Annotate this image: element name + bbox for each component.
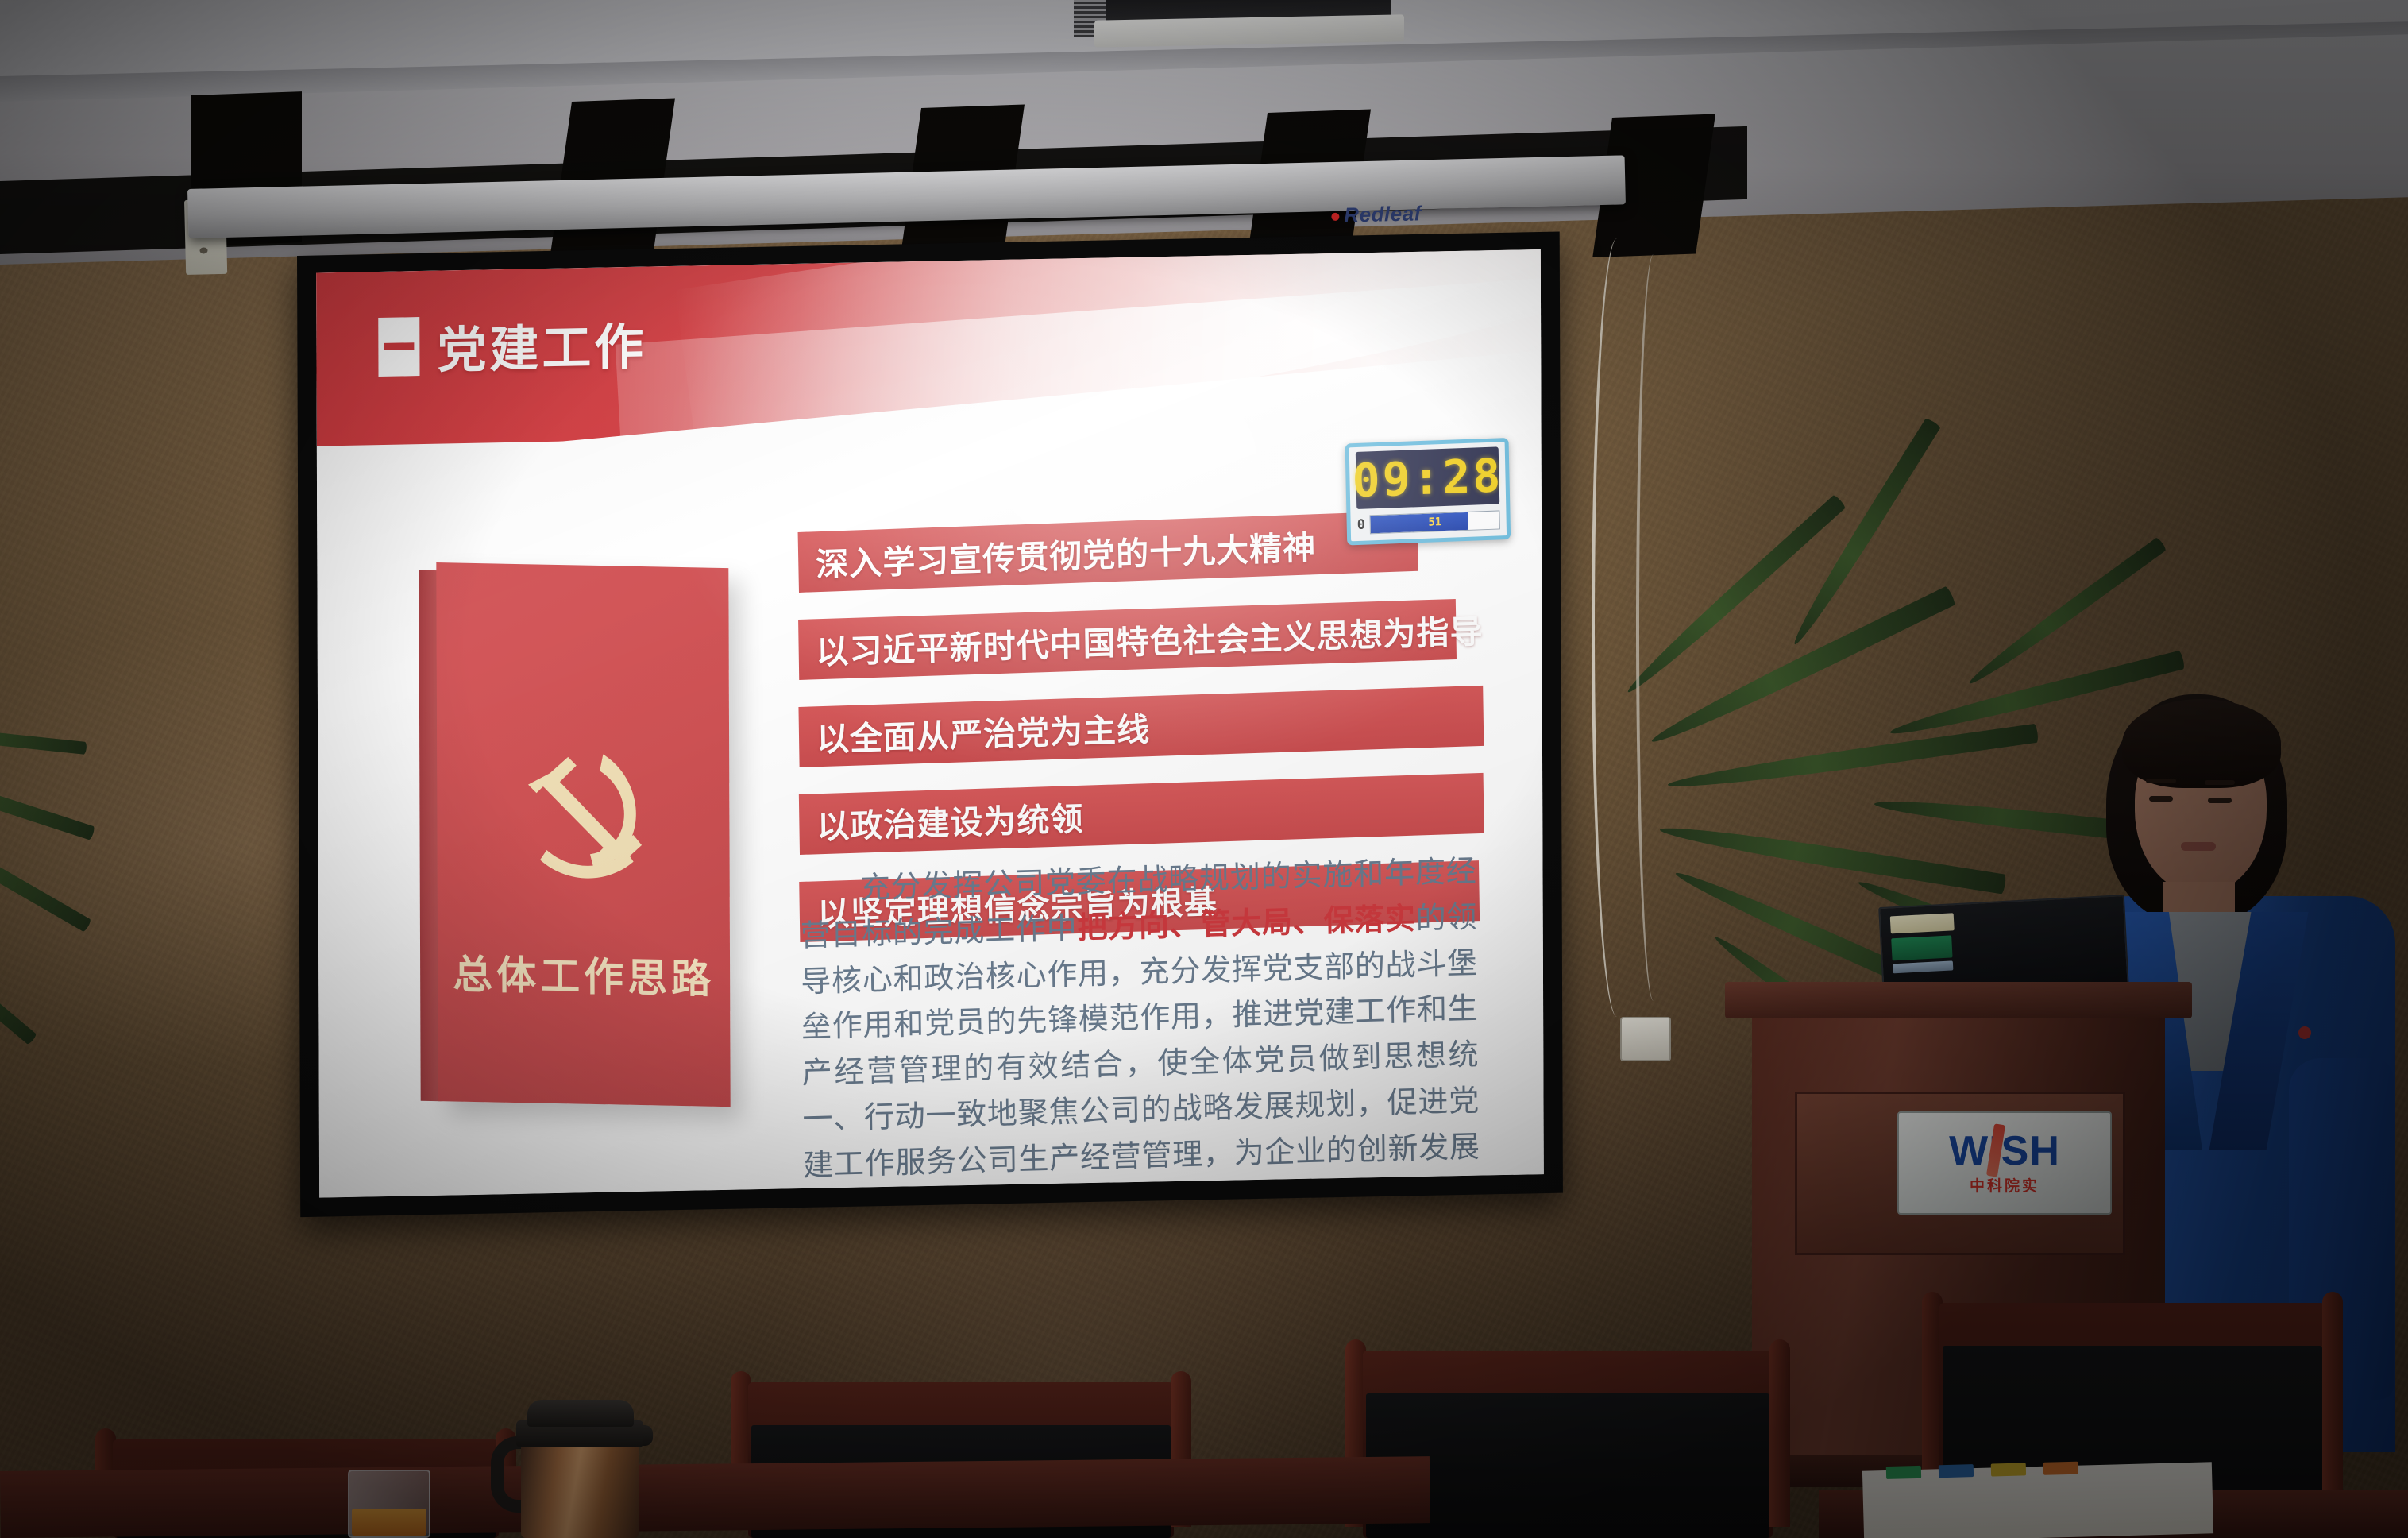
conference-room-photo: Redleaf 党建工作 <box>0 0 2408 1538</box>
photo-vignette <box>0 0 2408 1538</box>
